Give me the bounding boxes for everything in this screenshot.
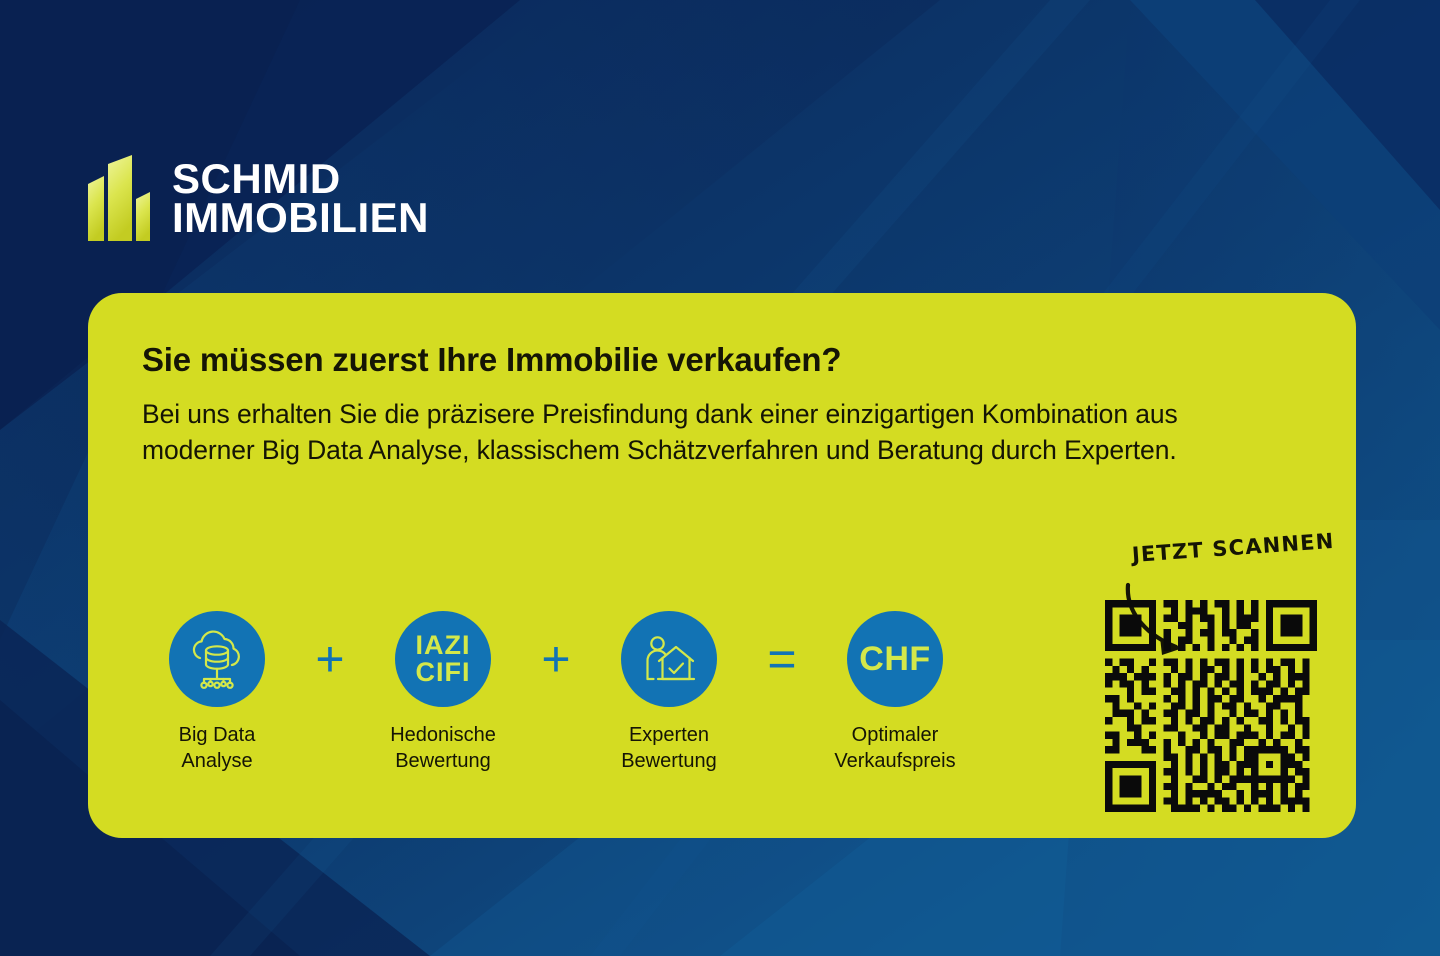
formula-item-label: Experten Bewertung: [621, 723, 717, 774]
label-line-1: Big Data: [179, 724, 256, 746]
card-body-text: Bei uns erhalten Sie die präzisere Preis…: [142, 396, 1292, 468]
chf-currency-icon: CHF: [847, 611, 943, 707]
chf-text: CHF: [859, 642, 930, 676]
qr-code-icon[interactable]: [1105, 600, 1317, 800]
buildings-icon: [88, 155, 150, 241]
formula-item-hedonische[interactable]: IAZI CIFI Hedonische Bewertung: [368, 611, 518, 774]
logo-line-2: IMMOBILIEN: [172, 198, 429, 237]
iazi-text-line-1: IAZI: [416, 630, 471, 660]
formula-item-label: Optimaler Verkaufspreis: [834, 723, 955, 774]
formula-item-verkaufspreis[interactable]: CHF Optimaler Verkaufspreis: [820, 611, 970, 774]
label-line-2: Bewertung: [395, 750, 491, 772]
label-line-1: Experten: [629, 724, 709, 746]
label-line-2: Analyse: [181, 750, 252, 772]
logo-line-1: SCHMID: [172, 159, 429, 198]
expert-house-check-icon: [621, 611, 717, 707]
logo-wordmark: SCHMID IMMOBILIEN: [172, 159, 429, 238]
label-line-1: Hedonische: [390, 724, 496, 746]
formula-item-experten[interactable]: Experten Bewertung: [594, 611, 744, 774]
label-line-1: Optimaler: [852, 724, 939, 746]
iazi-text-line-2: CIFI: [416, 657, 471, 687]
scan-label: JETZT SCANNEN: [1131, 529, 1335, 567]
promo-card: Sie müssen zuerst Ihre Immobilie verkauf…: [88, 293, 1356, 838]
brand-logo[interactable]: SCHMID IMMOBILIEN: [88, 155, 429, 241]
page-title: Sie müssen zuerst Ihre Immobilie verkauf…: [142, 341, 841, 379]
operator-plus-2: +: [518, 611, 594, 707]
operator-plus-1: +: [292, 611, 368, 707]
formula-item-label: Hedonische Bewertung: [390, 723, 496, 774]
formula-item-big-data[interactable]: Big Data Analyse: [142, 611, 292, 774]
label-line-2: Bewertung: [621, 750, 717, 772]
cloud-database-icon: [169, 611, 265, 707]
iazi-cifi-logo-icon: IAZI CIFI: [395, 611, 491, 707]
formula-item-label: Big Data Analyse: [179, 723, 256, 774]
operator-equals: =: [744, 611, 820, 707]
valuation-formula: Big Data Analyse + IAZI CIFI Hedonische …: [142, 611, 970, 774]
label-line-2: Verkaufspreis: [834, 750, 955, 772]
